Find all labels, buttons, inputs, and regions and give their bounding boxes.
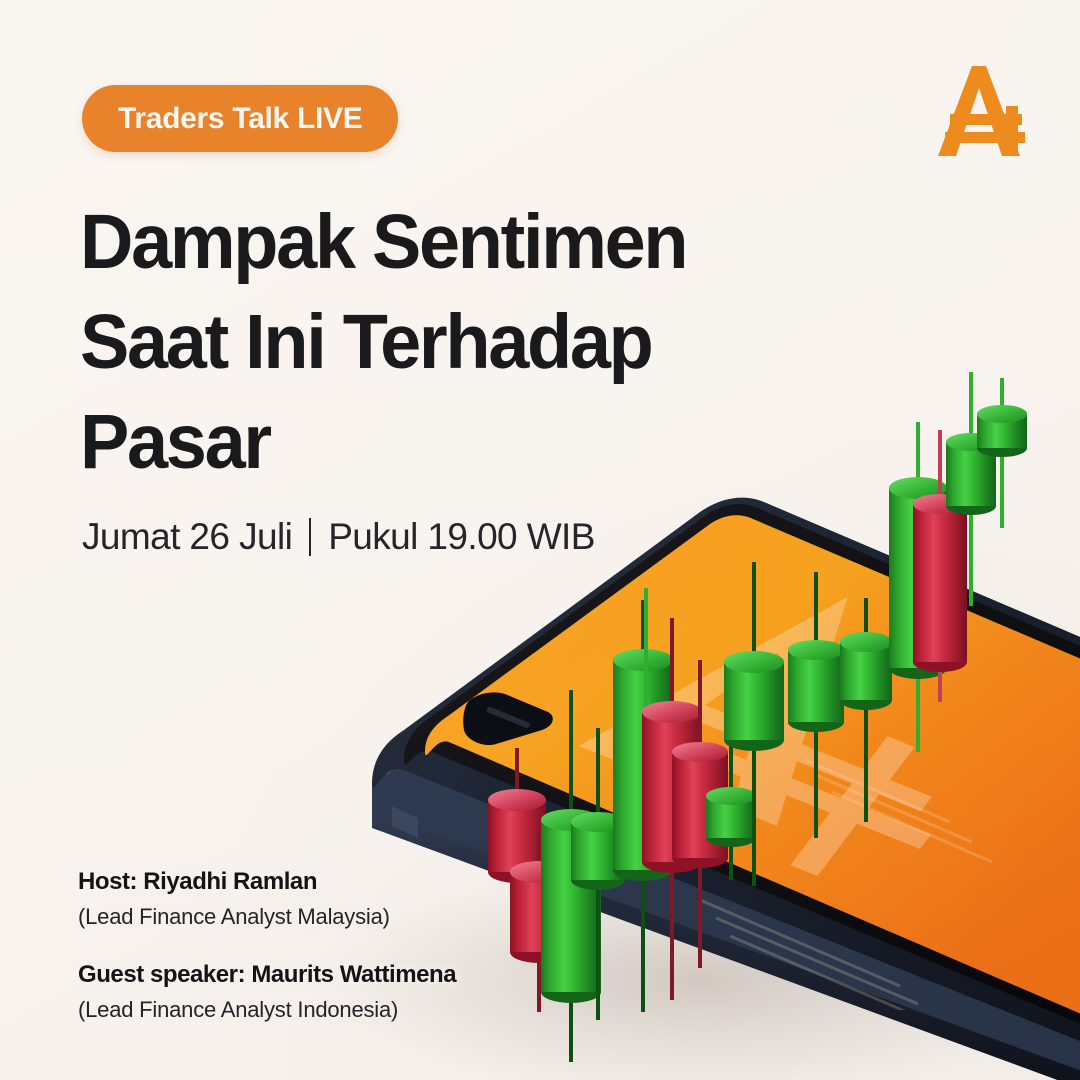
page-title-line-2: Saat Ini Terhadap — [80, 292, 771, 392]
abra-a-logo-icon — [928, 60, 1032, 164]
speaker-guest-role: (Lead Finance Analyst Indonesia) — [78, 994, 456, 1026]
schedule-separator — [309, 518, 311, 556]
speaker-guest-name: Guest speaker: Maurits Wattimena — [78, 959, 456, 991]
speaker-guest: Guest speaker: Maurits Wattimena (Lead F… — [78, 959, 456, 1026]
event-time: Pukul 19.00 WIB — [328, 516, 595, 558]
speaker-host-role: (Lead Finance Analyst Malaysia) — [78, 901, 456, 933]
page-title-line-3: Pasar — [80, 392, 771, 492]
live-session-badge: Traders Talk LIVE — [82, 85, 398, 152]
speaker-host: Host: Riyadhi Ramlan (Lead Finance Analy… — [78, 866, 456, 933]
event-schedule: Jumat 26 Juli Pukul 19.00 WIB — [82, 516, 595, 558]
speakers-list: Host: Riyadhi Ramlan (Lead Finance Analy… — [78, 866, 456, 1026]
page-title-line-1: Dampak Sentimen — [80, 192, 771, 292]
page-title: Dampak Sentimen Saat Ini Terhadap Pasar — [80, 192, 800, 492]
speaker-host-name: Host: Riyadhi Ramlan — [78, 866, 456, 898]
live-session-badge-label: Traders Talk LIVE — [118, 102, 362, 136]
event-date: Jumat 26 Juli — [82, 516, 292, 558]
promo-poster: Traders Talk LIVE Dampak Sentimen Saat I… — [0, 0, 1080, 1080]
